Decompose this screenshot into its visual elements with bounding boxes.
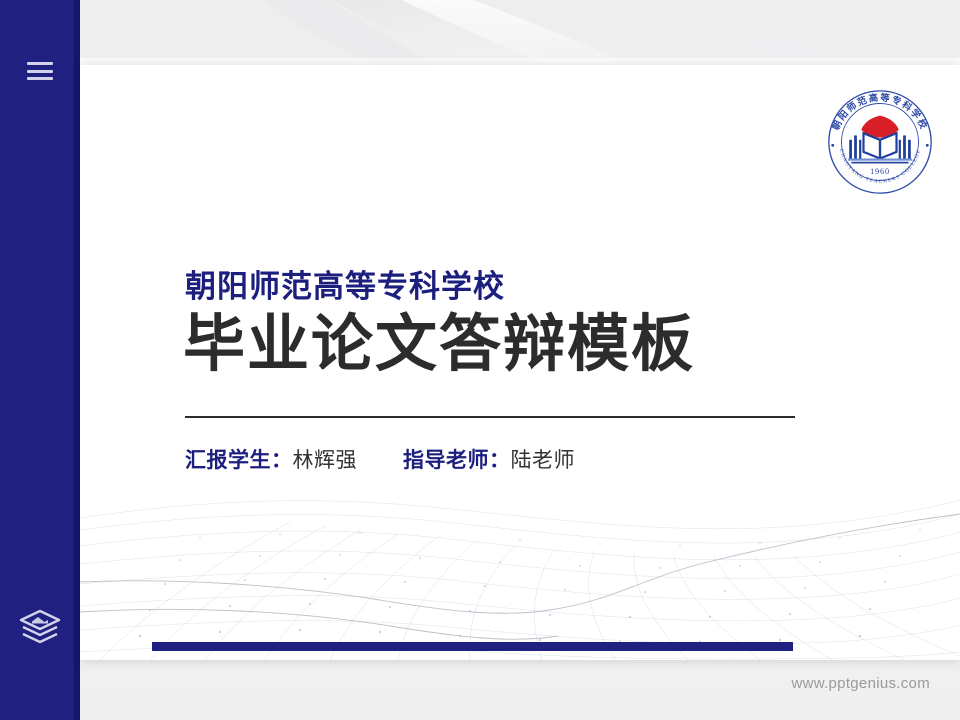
- menu-button[interactable]: [0, 56, 80, 86]
- layers-stack-icon: [17, 607, 63, 649]
- footer-url[interactable]: www.pptgenius.com: [792, 675, 931, 692]
- presentation-stage: 朝阳师范高等专科学校 CHAOYANG TEACHERS COLLEGE: [0, 0, 960, 720]
- credit-advisor: 指导老师： 陆老师: [403, 444, 575, 474]
- credit-advisor-label: 指导老师：: [403, 444, 511, 474]
- slide-canvas: 朝阳师范高等专科学校 CHAOYANG TEACHERS COLLEGE: [80, 65, 960, 660]
- chaoyang-teachers-college-seal: 朝阳师范高等专科学校 CHAOYANG TEACHERS COLLEGE: [825, 87, 935, 197]
- credit-student: 汇报学生： 林辉强: [185, 444, 357, 474]
- credit-student-label: 汇报学生：: [185, 444, 293, 474]
- layers-button[interactable]: [0, 600, 80, 656]
- institution-subtitle: 朝阳师范高等专科学校: [185, 261, 505, 306]
- hamburger-menu-icon: [27, 62, 53, 80]
- credits-row: 汇报学生： 林辉强 指导老师： 陆老师: [185, 444, 575, 474]
- wireframe-mesh-decoration: [80, 460, 960, 660]
- credit-advisor-value: 陆老师: [511, 444, 576, 474]
- slide-bottom-accent-bar: [152, 642, 793, 651]
- page-title: 毕业论文答辩模板: [183, 311, 695, 379]
- credit-student-value: 林辉强: [293, 444, 358, 474]
- svg-text:1960: 1960: [870, 167, 890, 176]
- title-divider: [185, 416, 795, 418]
